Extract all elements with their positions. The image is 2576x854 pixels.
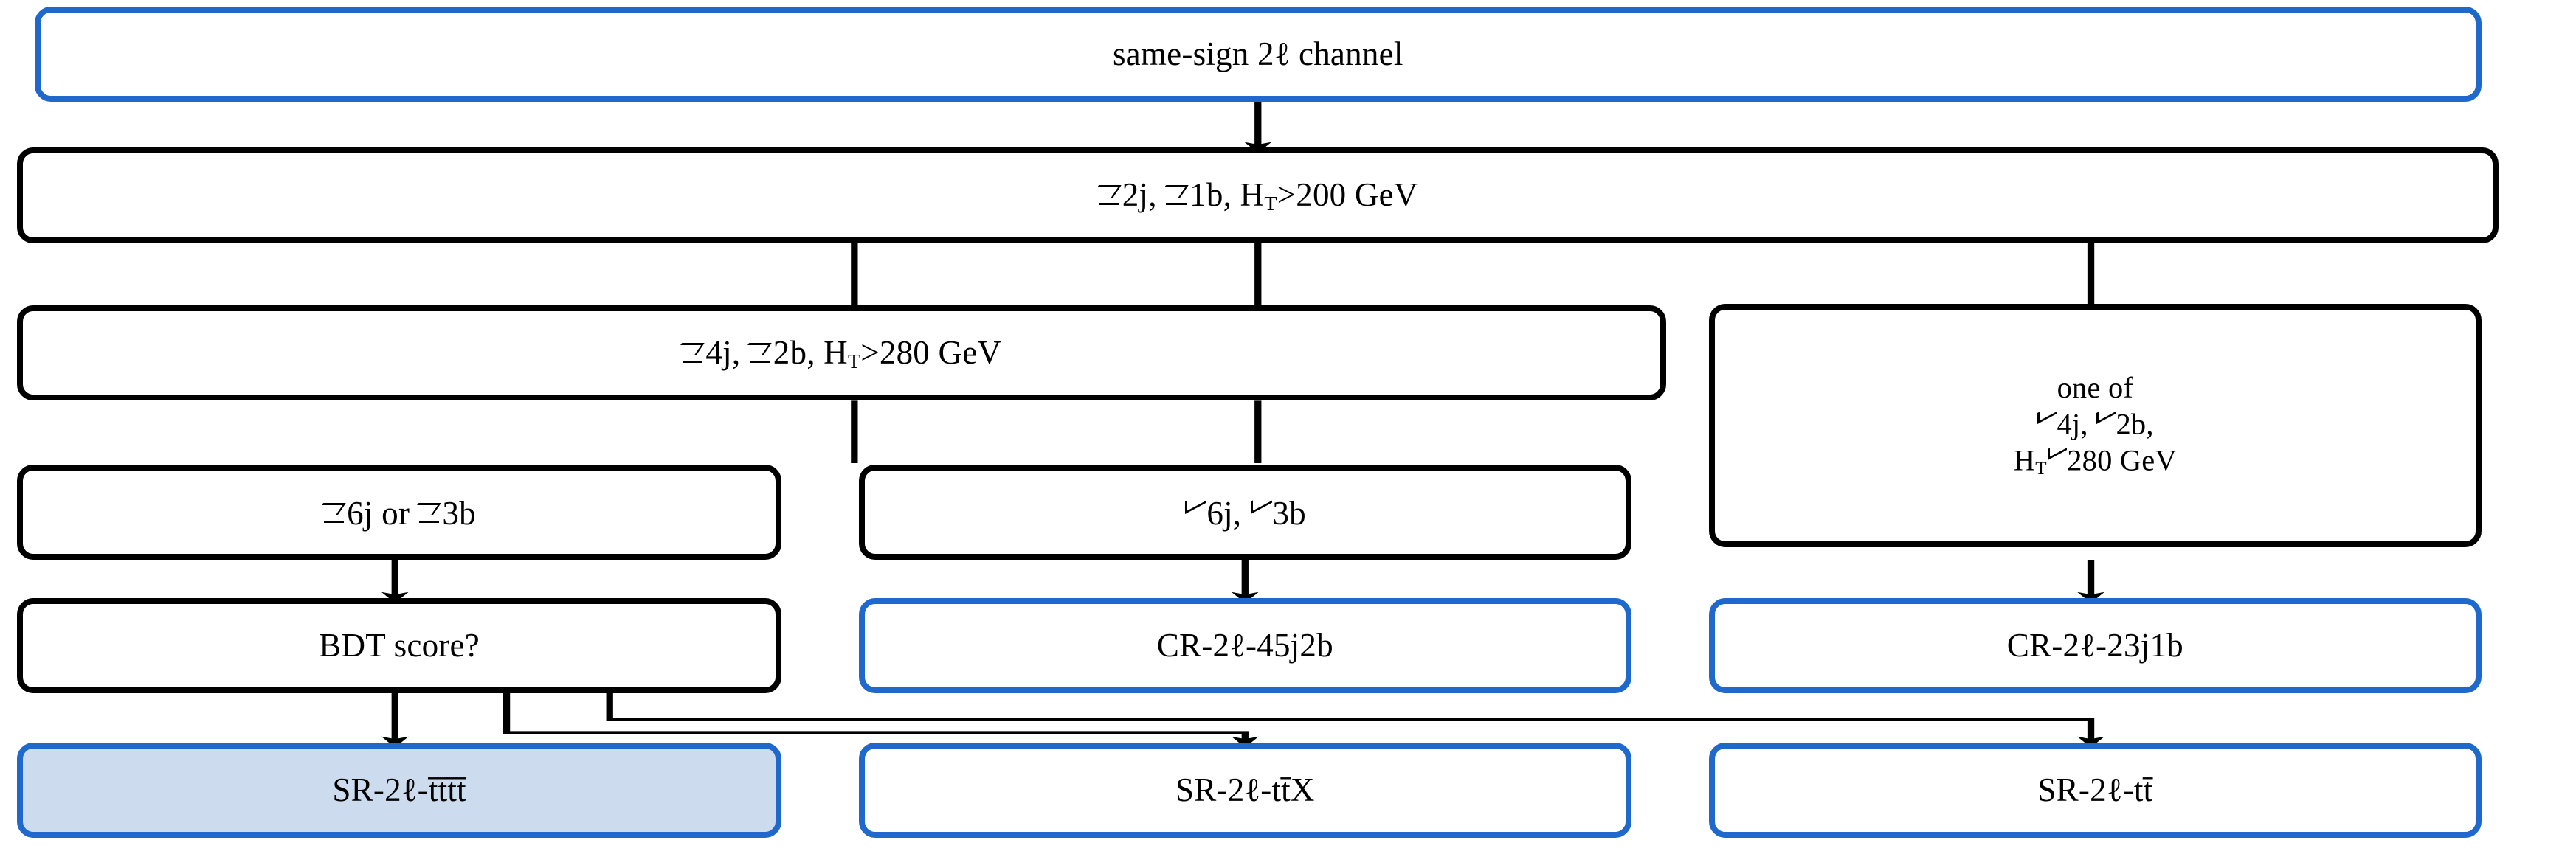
node-c1-lt6j-lt3b[interactable]: 6j, 3b	[859, 465, 1631, 560]
node-c1-6j-or-3b-label: 6j or 3b	[32, 493, 767, 532]
node-c1-header-label: same-sign 2ℓ channel	[49, 35, 2467, 72]
one-of-line-1: one of	[1724, 371, 2467, 404]
node-c1-bdt-score-label: BDT score?	[32, 627, 767, 664]
ge-icon	[322, 493, 346, 527]
one-of-line-2: 4j, 2b,	[1724, 405, 2467, 441]
node-c1-sr-2l-tt-label: SR-2ℓ-tt̄	[1724, 771, 2467, 808]
lt-icon	[2096, 405, 2116, 434]
node-c1-4j2b-ht280[interactable]: 4j, 2b, HT>280 GeV	[17, 305, 1665, 400]
ge-icon	[1165, 175, 1189, 208]
lt-icon	[1250, 492, 1272, 525]
lt-icon	[2047, 441, 2067, 471]
node-c1-sr-2l-tttt-label: SR-2ℓ-t̄t̄t̄t̄	[32, 771, 767, 808]
node-c1-4j2b-ht280-label: 4j, 2b, HT>280 GeV	[32, 333, 1651, 373]
node-c1-sr-2l-ttx-label: SR-2ℓ-tt̄X	[874, 771, 1617, 808]
arrow-c1-bdt-to-sr-tt	[610, 692, 2090, 743]
ge-icon	[682, 333, 705, 366]
one-of-line-3: HT280 GeV	[1724, 441, 2467, 479]
ge-icon	[749, 333, 773, 366]
node-c1-bdt-score[interactable]: BDT score?	[17, 598, 781, 693]
ge-icon	[418, 493, 442, 527]
node-c1-cr-23j1b-label: CR-2ℓ-23j1b	[1724, 627, 2467, 664]
node-c1-header[interactable]: same-sign 2ℓ channel	[35, 7, 2482, 102]
node-c1-one-of-label: one of 4j, 2b, HT280 GeV	[1724, 371, 2467, 479]
node-c1-preselection-label: 2j, 1b, HT>200 GeV	[32, 175, 2484, 215]
node-c1-sr-2l-tt[interactable]: SR-2ℓ-tt̄	[1709, 743, 2482, 838]
node-c1-lt6j-lt3b-label: 6j, 3b	[874, 492, 1617, 532]
node-c1-one-of[interactable]: one of 4j, 2b, HT280 GeV	[1709, 304, 2482, 547]
arrow-c1-bdt-to-sr-ttx	[507, 692, 1246, 743]
node-c1-preselection[interactable]: 2j, 1b, HT>200 GeV	[17, 147, 2499, 243]
flowchart-diagram: same-sign 2ℓ channel 2j, 1b, HT>200 GeV …	[0, 0, 2576, 854]
lt-icon	[2037, 405, 2057, 434]
lt-icon	[1184, 492, 1206, 525]
node-c1-cr-45j2b-label: CR-2ℓ-45j2b	[874, 627, 1617, 664]
node-c1-cr-23j1b[interactable]: CR-2ℓ-23j1b	[1709, 598, 2482, 693]
ge-icon	[1098, 175, 1122, 208]
node-c1-sr-2l-ttx[interactable]: SR-2ℓ-tt̄X	[859, 743, 1631, 838]
node-c1-6j-or-3b[interactable]: 6j or 3b	[17, 465, 781, 560]
node-c1-cr-45j2b[interactable]: CR-2ℓ-45j2b	[859, 598, 1631, 693]
node-c1-sr-2l-tttt[interactable]: SR-2ℓ-t̄t̄t̄t̄	[17, 743, 781, 838]
